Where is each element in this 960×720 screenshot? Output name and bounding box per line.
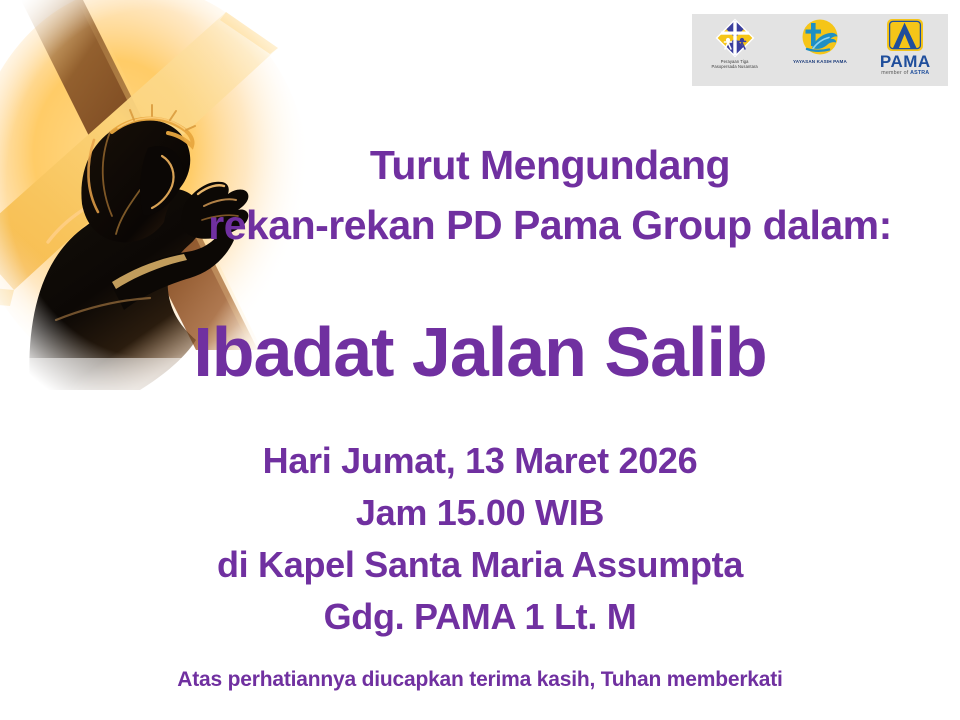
event-building: Gdg. PAMA 1 Lt. M bbox=[0, 596, 960, 638]
event-time: Jam 15.00 WIB bbox=[0, 492, 960, 534]
event-venue: di Kapel Santa Maria Assumpta bbox=[0, 544, 960, 586]
invite-line-1: Turut Mengundang bbox=[160, 142, 940, 189]
invitation-slide: Perayaan Tiga Pasopersada Nusantara YAYA… bbox=[0, 0, 960, 720]
event-title: Ibadat Jalan Salib bbox=[0, 312, 960, 392]
invite-line-2: rekan-rekan PD Pama Group dalam: bbox=[160, 202, 940, 249]
event-date: Hari Jumat, 13 Maret 2026 bbox=[0, 440, 960, 482]
invitation-text-block: Turut Mengundang rekan-rekan PD Pama Gro… bbox=[0, 0, 960, 720]
closing-message: Atas perhatiannya diucapkan terima kasih… bbox=[0, 668, 960, 692]
